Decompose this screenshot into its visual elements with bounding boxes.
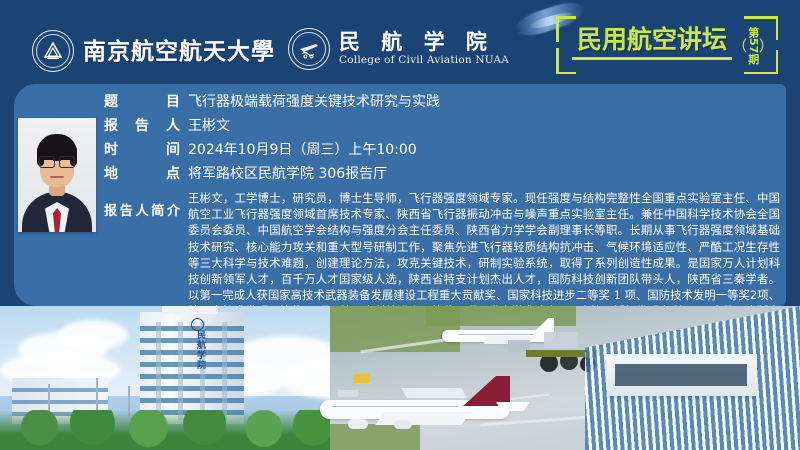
airport-terminal [585, 306, 800, 450]
detail-row-time: 时间 2024年10月9日（周三）上午10:00 [104, 140, 780, 160]
university-name-cn: 南京航空航天大學 [83, 40, 275, 63]
value-speaker: 王彬文 [180, 116, 230, 136]
value-title: 飞行器极端载荷强度关键技术研究与实践 [180, 92, 440, 112]
label-speaker: 报告人 [104, 116, 180, 136]
value-location: 将军路校区民航学院 306报告厅 [180, 164, 387, 184]
nuaa-seal-icon [32, 30, 74, 72]
speaker-photo [18, 118, 96, 232]
seminar-details: 题目 飞行器极端载荷强度关键技术研究与实践 报告人 王彬文 时间 2024年10… [104, 92, 780, 336]
forum-issue-number: （ 第57期 ） [738, 24, 768, 68]
label-location: 地点 [104, 164, 180, 184]
civil-aviation-college-logo: 民 航 学 院 College of Civil Aviation NUAA [288, 28, 509, 70]
issue-paren-close: ） [759, 39, 774, 54]
airport-apron [330, 306, 800, 450]
forum-title-underline [572, 57, 732, 60]
detail-row-location: 地点 将军路校区民航学院 306报告厅 [104, 164, 780, 184]
label-bio: 报告人简介 [104, 190, 180, 220]
campus-photo-band: 民航学院 [0, 306, 800, 450]
label-time: 时间 [104, 140, 180, 160]
cca-seal-icon [288, 28, 330, 70]
issue-text: 第57期 [747, 27, 759, 64]
college-name-cn: 民 航 学 院 [339, 31, 509, 53]
seminar-poster: 南京航空航天大學 民 航 学 院 College of Civil Aviati… [0, 0, 800, 450]
poster-header: 南京航空航天大學 民 航 学 院 College of Civil Aviati… [0, 0, 800, 88]
detail-row-speaker: 报告人 王彬文 [104, 116, 780, 136]
nuaa-logo: 南京航空航天大學 [32, 30, 275, 72]
campus-trees [0, 410, 330, 450]
issue-paren-open: （ [732, 39, 747, 54]
forum-title-badge: 民用航空讲坛 （ 第57期 ） [556, 16, 778, 74]
forum-title-text: 民用航空讲坛 [570, 27, 734, 52]
college-name-en: College of Civil Aviation NUAA [339, 55, 509, 67]
detail-row-title: 题目 飞行器极端载荷强度关键技术研究与实践 [104, 92, 780, 112]
building-sign-text: 民航学院 [190, 330, 206, 370]
label-title: 题目 [104, 92, 180, 112]
value-time: 2024年10月9日（周三）上午10:00 [180, 140, 417, 160]
